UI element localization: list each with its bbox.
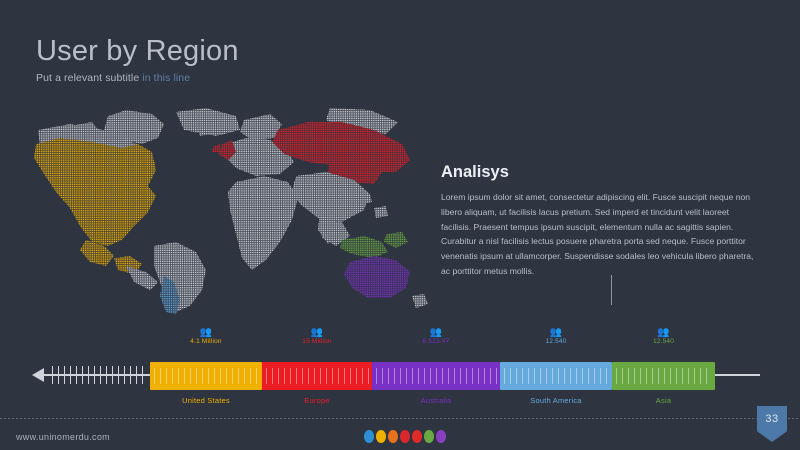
footer-dot-2 [376, 430, 386, 443]
header: User by Region Put a relevant subtitle i… [36, 36, 239, 84]
subtitle-accent-text: in this line [142, 72, 190, 84]
axis-tick [52, 366, 53, 384]
segment-value: 12.540 [500, 338, 612, 345]
segment-label: United States [150, 396, 262, 405]
axis-tick [100, 366, 101, 384]
page-subtitle: Put a relevant subtitle in this line [36, 72, 239, 84]
segment-ticks [500, 368, 612, 384]
world-map [30, 100, 430, 315]
analisys-heading: Analisys [441, 163, 761, 182]
axis-tick [88, 366, 89, 384]
segment-value: 15 Million [262, 338, 372, 345]
chart-segment-united-states[interactable]: 👥4.1 MillionUnited States [150, 362, 262, 390]
footer-dot-3 [388, 430, 398, 443]
axis-tick [70, 366, 71, 384]
segment-label: Europe [262, 396, 372, 405]
footer-dot-6 [424, 430, 434, 443]
analisys-panel: Analisys Lorem ipsum dolor sit amet, con… [441, 163, 761, 279]
axis-tick [82, 366, 83, 384]
chart-segment-australia[interactable]: 👥8.523.47Australia [372, 362, 500, 390]
analisys-body-text: Lorem ipsum dolor sit amet, consectetur … [441, 190, 761, 279]
segment-label: Australia [372, 396, 500, 405]
axis-tick [76, 366, 77, 384]
axis-tick [124, 366, 125, 384]
people-icon: 👥 [150, 328, 262, 338]
people-icon: 👥 [500, 328, 612, 338]
footer-dot-1 [364, 430, 374, 443]
region-timeline-chart: 👥4.1 MillionUnited States👥15 MillionEuro… [0, 330, 800, 402]
axis-tick [112, 366, 113, 384]
people-icon: 👥 [262, 328, 372, 338]
page-title: User by Region [36, 36, 239, 68]
axis-tick [64, 366, 65, 384]
chart-segment-europe[interactable]: 👥15 MillionEurope [262, 362, 372, 390]
footer-dot-7 [436, 430, 446, 443]
segment-ticks [262, 368, 372, 384]
chart-segment-asia[interactable]: 👥12.540Asia [612, 362, 715, 390]
map-landmasses [34, 108, 428, 314]
segment-value: 8.523.47 [372, 338, 500, 345]
segment-ticks [372, 368, 500, 384]
chart-bars: 👥4.1 MillionUnited States👥15 MillionEuro… [150, 362, 715, 390]
map-region-indonesia [340, 236, 388, 258]
segment-label: Asia [612, 396, 715, 405]
footer-divider [0, 418, 800, 419]
axis-tick [94, 366, 95, 384]
chart-segment-south-america[interactable]: 👥12.540South America [500, 362, 612, 390]
axis-tick [58, 366, 59, 384]
people-icon: 👥 [372, 328, 500, 338]
people-icon: 👥 [612, 328, 715, 338]
segment-ticks [612, 368, 715, 384]
axis-tick [106, 366, 107, 384]
slide-canvas: User by Region Put a relevant subtitle i… [0, 0, 800, 450]
subtitle-text: Put a relevant subtitle [36, 72, 142, 84]
segment-value: 4.1 Million [150, 338, 262, 345]
axis-tick [136, 366, 137, 384]
footer-color-dots [364, 430, 446, 443]
axis-tick [118, 366, 119, 384]
footer-dot-5 [412, 430, 422, 443]
segment-value: 12.540 [612, 338, 715, 345]
axis-tick [130, 366, 131, 384]
page-number-badge: 33 [757, 406, 787, 442]
footer-dot-4 [400, 430, 410, 443]
map-region-united-states [34, 138, 156, 246]
footer-url[interactable]: www.uninomerdu.com [16, 432, 110, 442]
segment-ticks [150, 368, 262, 384]
map-region-australia [344, 256, 410, 298]
segment-label: South America [500, 396, 612, 405]
axis-tick [142, 366, 143, 384]
text-cursor [611, 275, 612, 305]
